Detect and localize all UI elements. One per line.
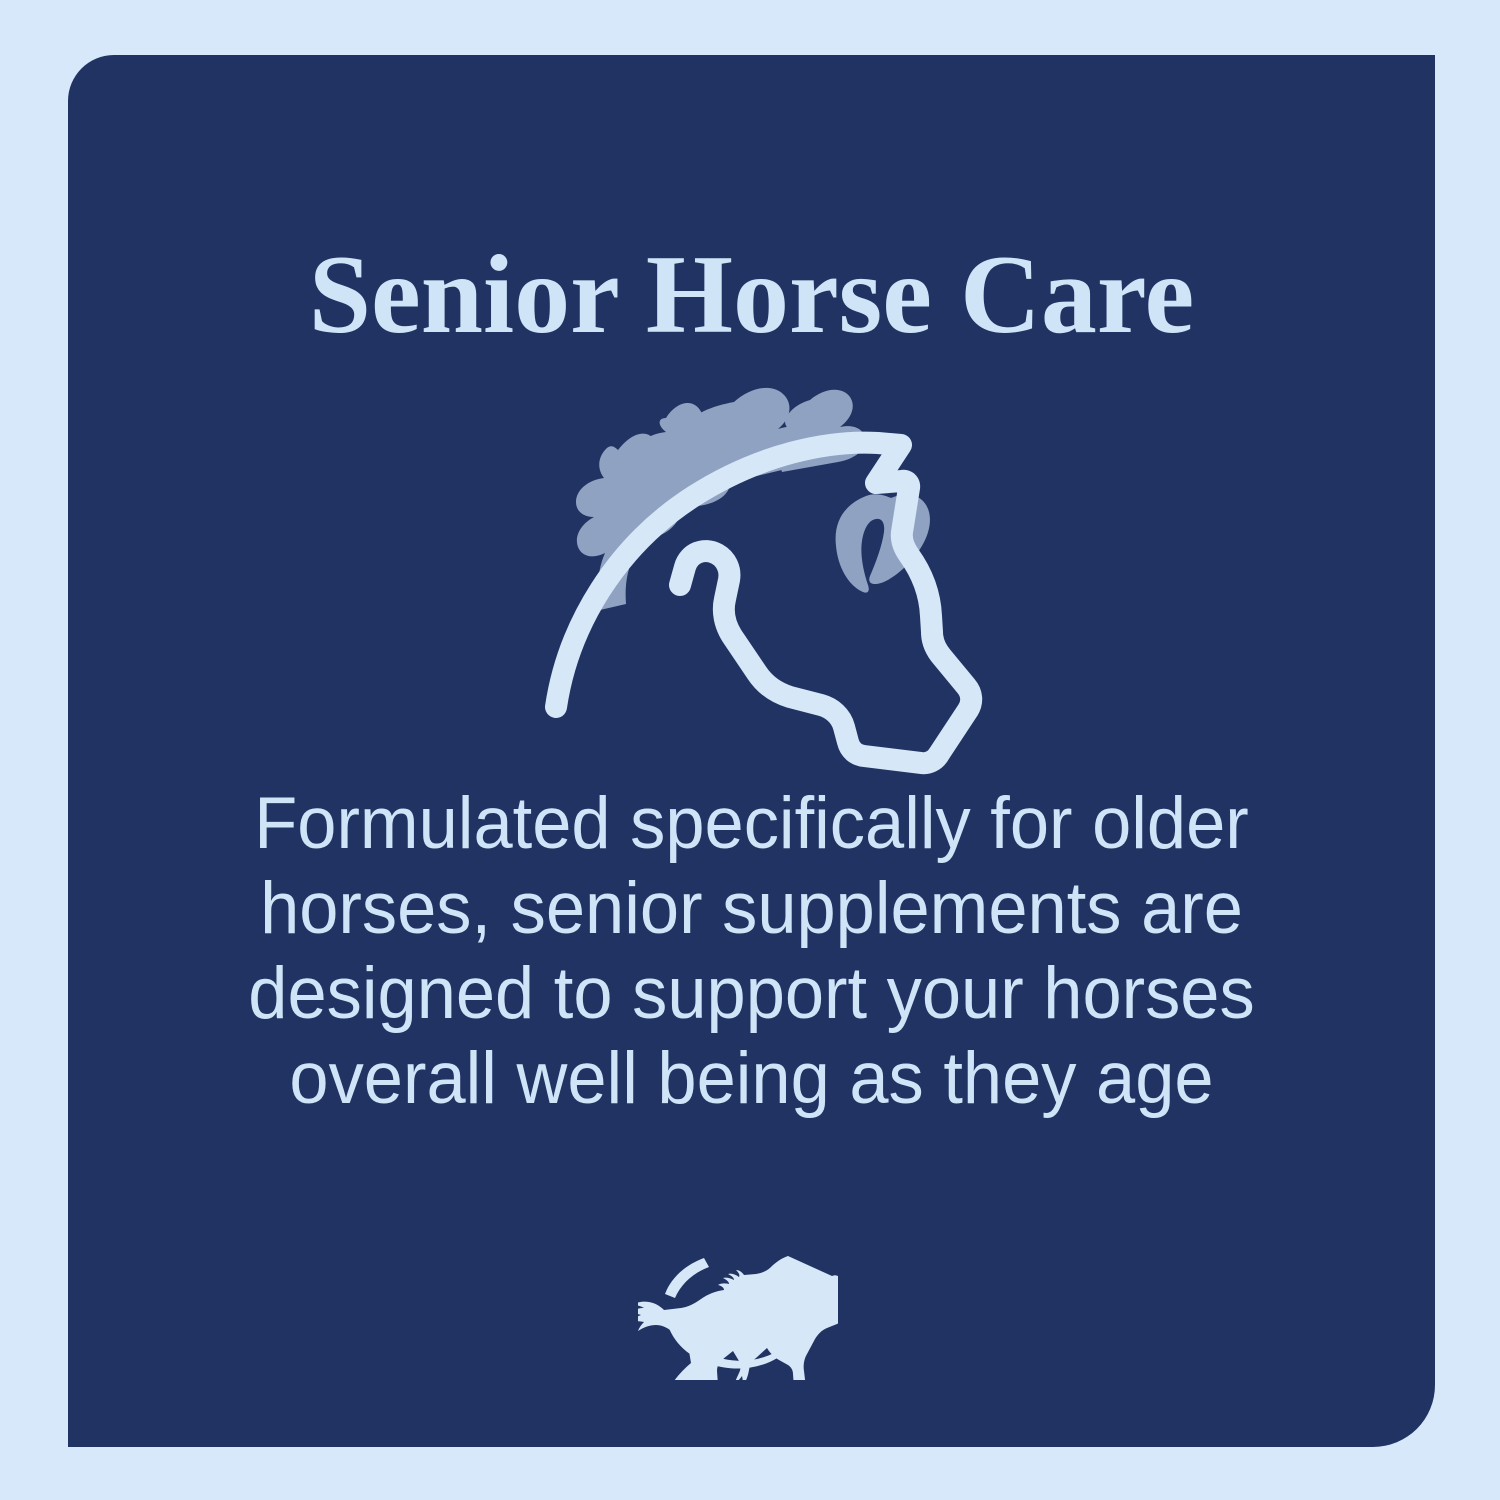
page-title: Senior Horse Care — [68, 239, 1435, 351]
horse-head-outline-icon — [498, 380, 1018, 780]
content-card: Senior Horse Care Formulated specifica — [68, 55, 1435, 1447]
description-text: Formulated specifically for older horses… — [237, 781, 1267, 1121]
poster-canvas: Senior Horse Care Formulated specifica — [0, 0, 1500, 1500]
brand-logo-icon — [638, 1240, 838, 1380]
